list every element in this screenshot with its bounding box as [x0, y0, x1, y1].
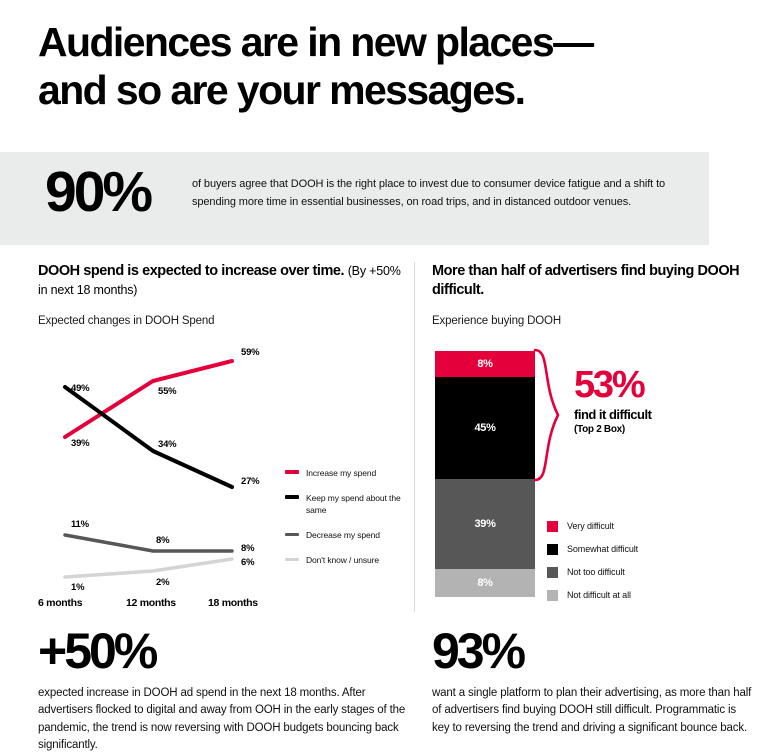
- axis-label-6-months: 6 months: [38, 597, 82, 609]
- callout-value: 53%: [574, 367, 651, 403]
- callout-line-2: (Top 2 Box): [574, 424, 651, 435]
- label-dontknow-12mo: 2%: [156, 577, 169, 588]
- legend-item-somewhat-difficult[interactable]: Somewhat difficult: [547, 544, 638, 555]
- legend-swatch-red-icon: [547, 521, 558, 532]
- line-series-decrease: [65, 535, 232, 551]
- legend-dash-lightgray-icon: [285, 558, 299, 561]
- line-series-increase: [65, 361, 232, 437]
- label-dontknow-6mo: 1%: [71, 582, 84, 593]
- legend-item-very-difficult[interactable]: Very difficult: [547, 521, 638, 532]
- headline-line-2: and so are your messages.: [38, 66, 738, 114]
- label-dontknow-18mo: 6%: [241, 557, 254, 568]
- column-divider: [414, 262, 415, 612]
- label-decrease-6mo: 11%: [71, 519, 89, 530]
- label-keep-12mo: 34%: [158, 439, 176, 450]
- bar-segment-label-not-difficult-at-all: 8%: [477, 577, 492, 589]
- left-section-title-bold: DOOH spend is expected to increase over …: [38, 263, 344, 279]
- legend-item-increase[interactable]: Increase my spend: [285, 467, 405, 479]
- callout-53-percent: 53% find it difficult (Top 2 Box): [574, 367, 651, 435]
- bottom-right-value: 93%: [432, 626, 752, 676]
- legend-item-dont-know[interactable]: Don't know / unsure: [285, 554, 405, 566]
- legend-swatch-lightgray-icon: [547, 590, 558, 601]
- legend-dash-darkgray-icon: [285, 533, 299, 536]
- bar-segment-not-difficult-at-all[interactable]: 8%: [435, 569, 535, 597]
- line-chart: 39% 55% 59% 49% 34% 27% 11% 8% 8% 1% 2% …: [38, 339, 408, 604]
- bar-segment-somewhat-difficult[interactable]: 45%: [435, 377, 535, 479]
- headline-line-1: Audiences are in new places—: [38, 19, 593, 65]
- legend-item-not-difficult-at-all[interactable]: Not difficult at all: [547, 590, 638, 601]
- bar-segment-not-too-difficult[interactable]: 39%: [435, 479, 535, 569]
- line-series-keep-same: [65, 387, 232, 487]
- label-decrease-12mo: 8%: [156, 535, 169, 546]
- bar-segment-label-very-difficult: 8%: [477, 358, 492, 370]
- label-increase-6mo: 39%: [71, 438, 89, 449]
- stacked-bar-chart: 8% 45% 39% 8% 53% find it difficult (Top…: [432, 339, 752, 604]
- legend-swatch-darkgray-icon: [547, 567, 558, 578]
- bottom-left-copy: expected increase in DOOH ad spend in th…: [38, 685, 408, 755]
- legend-label-not-difficult-at-all: Not difficult at all: [567, 590, 631, 600]
- legend-label-keep-same: Keep my spend about the same: [306, 492, 405, 516]
- callout-line-1: find it difficult: [574, 407, 651, 422]
- bottom-right-copy: want a single platform to plan their adv…: [432, 685, 752, 737]
- label-keep-18mo: 27%: [241, 476, 259, 487]
- right-section-title: More than half of advertisers find buyin…: [432, 262, 752, 301]
- axis-label-12-months: 12 months: [126, 597, 176, 609]
- legend-label-decrease: Decrease my spend: [306, 529, 380, 541]
- bar-segment-label-somewhat-difficult: 45%: [474, 422, 495, 434]
- bottom-left-stat: +50% expected increase in DOOH ad spend …: [38, 626, 408, 755]
- right-section-subtitle: Experience buying DOOH: [432, 315, 752, 327]
- bar-segment-very-difficult[interactable]: 8%: [435, 351, 535, 377]
- axis-label-18-months: 18 months: [208, 597, 258, 609]
- legend-label-not-too-difficult: Not too difficult: [567, 567, 625, 577]
- brace-icon: [532, 347, 572, 487]
- bar-segment-label-not-too-difficult: 39%: [474, 518, 495, 530]
- line-chart-legend: Increase my spend Keep my spend about th…: [285, 467, 405, 579]
- hero-stat-panel: 90% of buyers agree that DOOH is the rig…: [0, 152, 709, 245]
- hero-stat-copy: of buyers agree that DOOH is the right p…: [192, 176, 692, 212]
- legend-label-somewhat-difficult: Somewhat difficult: [567, 544, 638, 554]
- label-increase-12mo: 55%: [158, 386, 176, 397]
- left-section-subtitle: Expected changes in DOOH Spend: [38, 315, 408, 327]
- legend-label-increase: Increase my spend: [306, 467, 376, 479]
- left-section-title: DOOH spend is expected to increase over …: [38, 262, 408, 301]
- label-decrease-18mo: 8%: [241, 543, 254, 554]
- legend-swatch-black-icon: [547, 544, 558, 555]
- bottom-right-stat: 93% want a single platform to plan their…: [432, 626, 752, 737]
- stacked-bar: 8% 45% 39% 8%: [435, 351, 535, 597]
- left-column: DOOH spend is expected to increase over …: [38, 262, 408, 604]
- bottom-left-value: +50%: [38, 626, 408, 676]
- line-series-dont-know: [65, 559, 232, 577]
- legend-item-decrease[interactable]: Decrease my spend: [285, 529, 405, 541]
- legend-item-not-too-difficult[interactable]: Not too difficult: [547, 567, 638, 578]
- hero-stat-value: 90%: [45, 164, 150, 221]
- legend-dash-red-icon: [285, 470, 299, 474]
- page-headline: Audiences are in new places— and so are …: [38, 18, 738, 115]
- legend-label-dont-know: Don't know / unsure: [306, 554, 379, 566]
- legend-label-very-difficult: Very difficult: [567, 521, 614, 531]
- right-column: More than half of advertisers find buyin…: [432, 262, 752, 604]
- bar-chart-legend: Very difficult Somewhat difficult Not to…: [547, 521, 638, 613]
- legend-item-keep-same[interactable]: Keep my spend about the same: [285, 492, 405, 516]
- label-keep-6mo: 49%: [71, 383, 89, 394]
- legend-dash-black-icon: [285, 495, 299, 499]
- label-increase-18mo: 59%: [241, 347, 259, 358]
